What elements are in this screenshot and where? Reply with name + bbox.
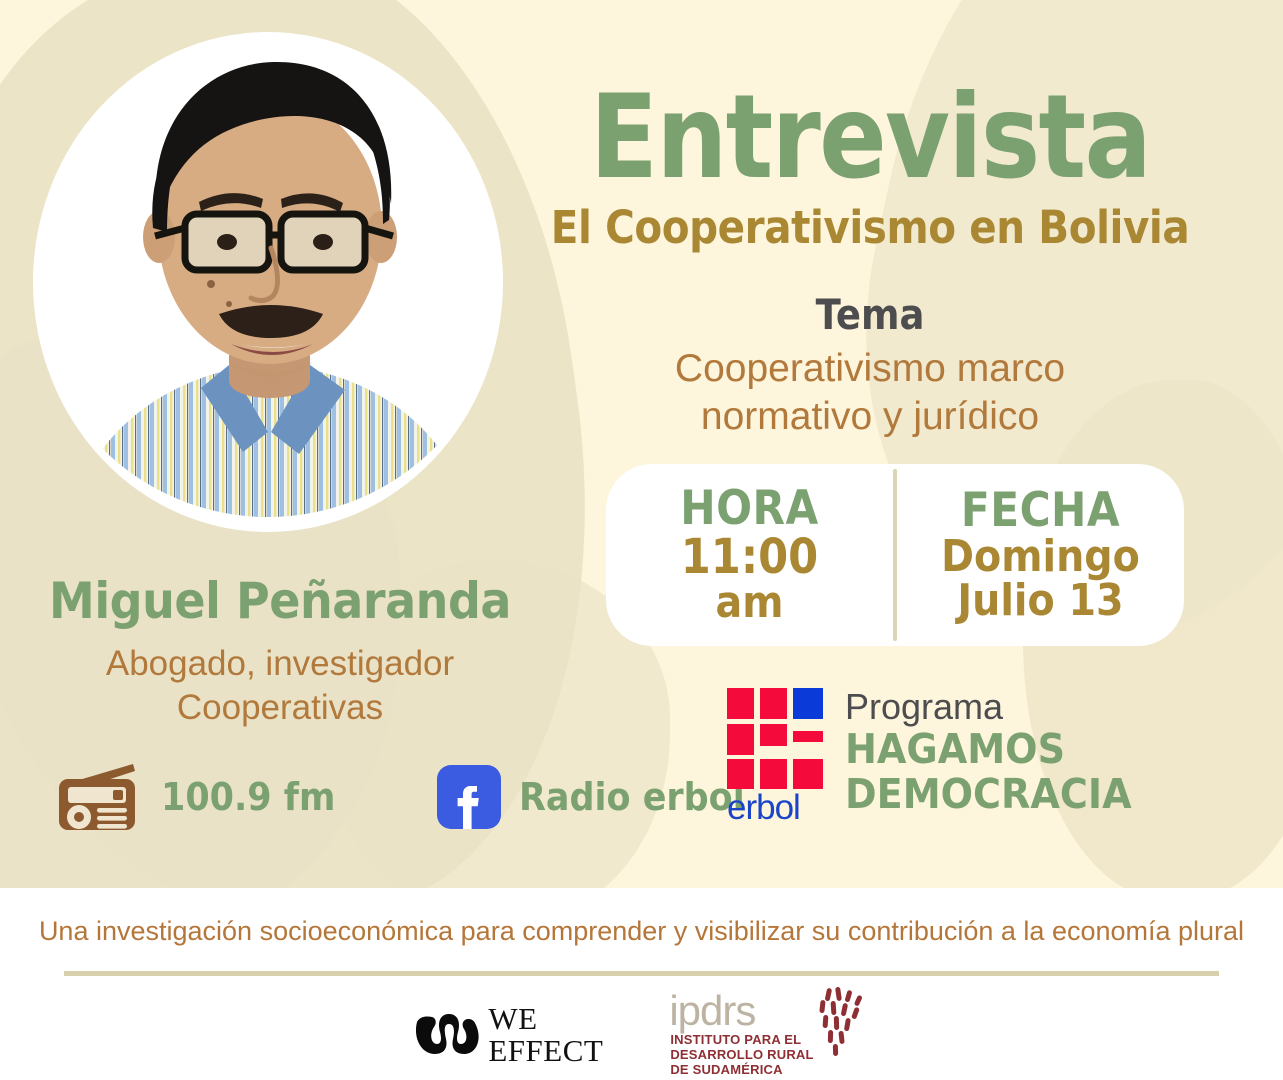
omega-mark-icon — [413, 1012, 479, 1058]
portrait-illustration — [33, 32, 503, 532]
footer-band: Una investigación socioeconómica para co… — [0, 888, 1283, 1080]
date-day: Domingo — [911, 535, 1169, 579]
page-subtitle: El Cooperativismo en Bolivia — [542, 204, 1199, 251]
event-poster: Entrevista El Cooperativismo en Bolivia … — [0, 0, 1283, 1080]
south-america-map-icon — [810, 986, 870, 1060]
time-label: HORA — [620, 485, 878, 533]
program-text: Programa HAGAMOS DEMOCRACIA — [845, 688, 1153, 817]
we-effect-logo: WE EFFECT — [413, 1003, 603, 1066]
ipdrs-wordmark: ipdrs — [669, 992, 813, 1031]
time-value: 11:00 — [620, 533, 878, 581]
date-label: FECHA — [911, 487, 1169, 535]
schedule-date-column: FECHA Domingo Julio 13 — [897, 487, 1184, 623]
we-effect-wordmark: WE EFFECT — [488, 1003, 603, 1066]
erbol-logo: erbol — [727, 688, 823, 825]
speaker-role-line-2: Cooperativas — [177, 688, 383, 727]
topic-line-1: Cooperativismo marco — [675, 347, 1065, 390]
ipdrs-text: ipdrs INSTITUTO PARA EL DESARROLLO RURAL… — [669, 992, 813, 1078]
program-name-line-1: HAGAMOS — [845, 728, 1132, 771]
ipdrs-subtitle-line-2: DESARROLLO RURAL — [670, 1047, 813, 1062]
we-effect-line-2: EFFECT — [488, 1035, 603, 1067]
topic-line-2: normativo y jurídico — [701, 395, 1039, 438]
speaker-role: Abogado, investigador Cooperativas — [10, 642, 550, 730]
program-name-line-2: DEMOCRACIA — [845, 773, 1132, 816]
radio-frequency-item: 100.9 fm — [55, 762, 351, 832]
avatar — [33, 32, 503, 532]
topic-label: Tema — [597, 290, 1143, 339]
schedule-time-column: HORA 11:00 am — [606, 485, 893, 625]
facebook-item[interactable]: Radio erbol — [437, 765, 764, 829]
topic-text: Cooperativismo marco normativo y jurídic… — [560, 345, 1180, 440]
speaker-role-line-1: Abogado, investigador — [106, 644, 454, 683]
footer-divider — [64, 971, 1219, 976]
facebook-page-label: Radio erbol — [519, 775, 745, 819]
speaker-name: Miguel Peñaranda — [32, 572, 529, 630]
ipdrs-subtitle: INSTITUTO PARA EL DESARROLLO RURAL DE SU… — [670, 1032, 813, 1078]
footer-logos: WE EFFECT ipdrs INSTITUTO PARA EL DESARR… — [0, 992, 1283, 1078]
time-meridiem: am — [620, 581, 878, 625]
ipdrs-logo: ipdrs INSTITUTO PARA EL DESARROLLO RURAL… — [669, 992, 869, 1078]
we-effect-line-1: WE — [488, 1003, 603, 1035]
erbol-wordmark: erbol — [727, 790, 823, 825]
erbol-grid-icon — [727, 688, 823, 789]
facebook-icon[interactable] — [437, 765, 501, 829]
radio-frequency-label: 100.9 fm — [161, 775, 335, 819]
footer-tagline: Una investigación socioeconómica para co… — [0, 916, 1283, 947]
ipdrs-subtitle-line-3: DE SUDAMÉRICA — [670, 1062, 813, 1077]
schedule-card: HORA 11:00 am FECHA Domingo Julio 13 — [606, 464, 1184, 646]
date-value: Julio 13 — [911, 579, 1169, 623]
speaker-block: Miguel Peñaranda Abogado, investigador C… — [10, 572, 550, 730]
headline-block: Entrevista El Cooperativismo en Bolivia — [505, 85, 1235, 251]
program-kicker: Programa — [845, 688, 1153, 726]
contact-row: 100.9 fm Radio erbol — [55, 762, 764, 832]
topic-block: Tema Cooperativismo marco normativo y ju… — [560, 290, 1180, 440]
program-block: erbol Programa HAGAMOS DEMOCRACIA — [727, 688, 1153, 825]
radio-icon — [55, 762, 143, 832]
ipdrs-subtitle-line-1: INSTITUTO PARA EL — [670, 1032, 813, 1047]
page-title: Entrevista — [556, 85, 1184, 192]
